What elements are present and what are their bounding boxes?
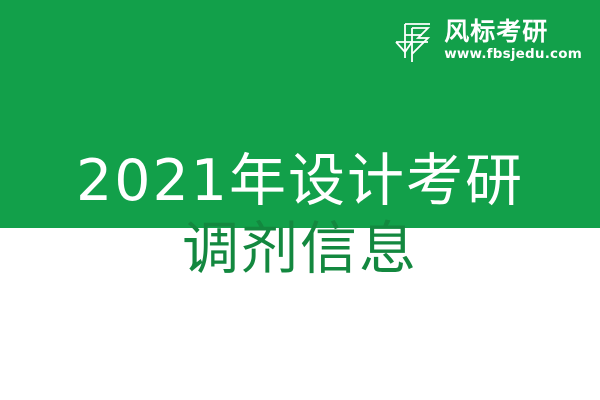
headline-line-1: 2021年设计考研: [0, 148, 600, 214]
brand-website-url: www.fbsjedu.com: [444, 47, 582, 63]
brand-logo-lockup: 风标考研 www.fbsjedu.com: [394, 18, 582, 64]
fb-monogram-icon: [394, 18, 436, 64]
headline-block: 2021年设计考研 调剂信息: [0, 148, 600, 282]
poster-canvas: 风标考研 www.fbsjedu.com 2021年设计考研 调剂信息: [0, 0, 600, 400]
headline-line-2: 调剂信息: [0, 216, 600, 282]
brand-name-cn: 风标考研: [444, 19, 548, 45]
brand-text-block: 风标考研 www.fbsjedu.com: [444, 19, 582, 62]
